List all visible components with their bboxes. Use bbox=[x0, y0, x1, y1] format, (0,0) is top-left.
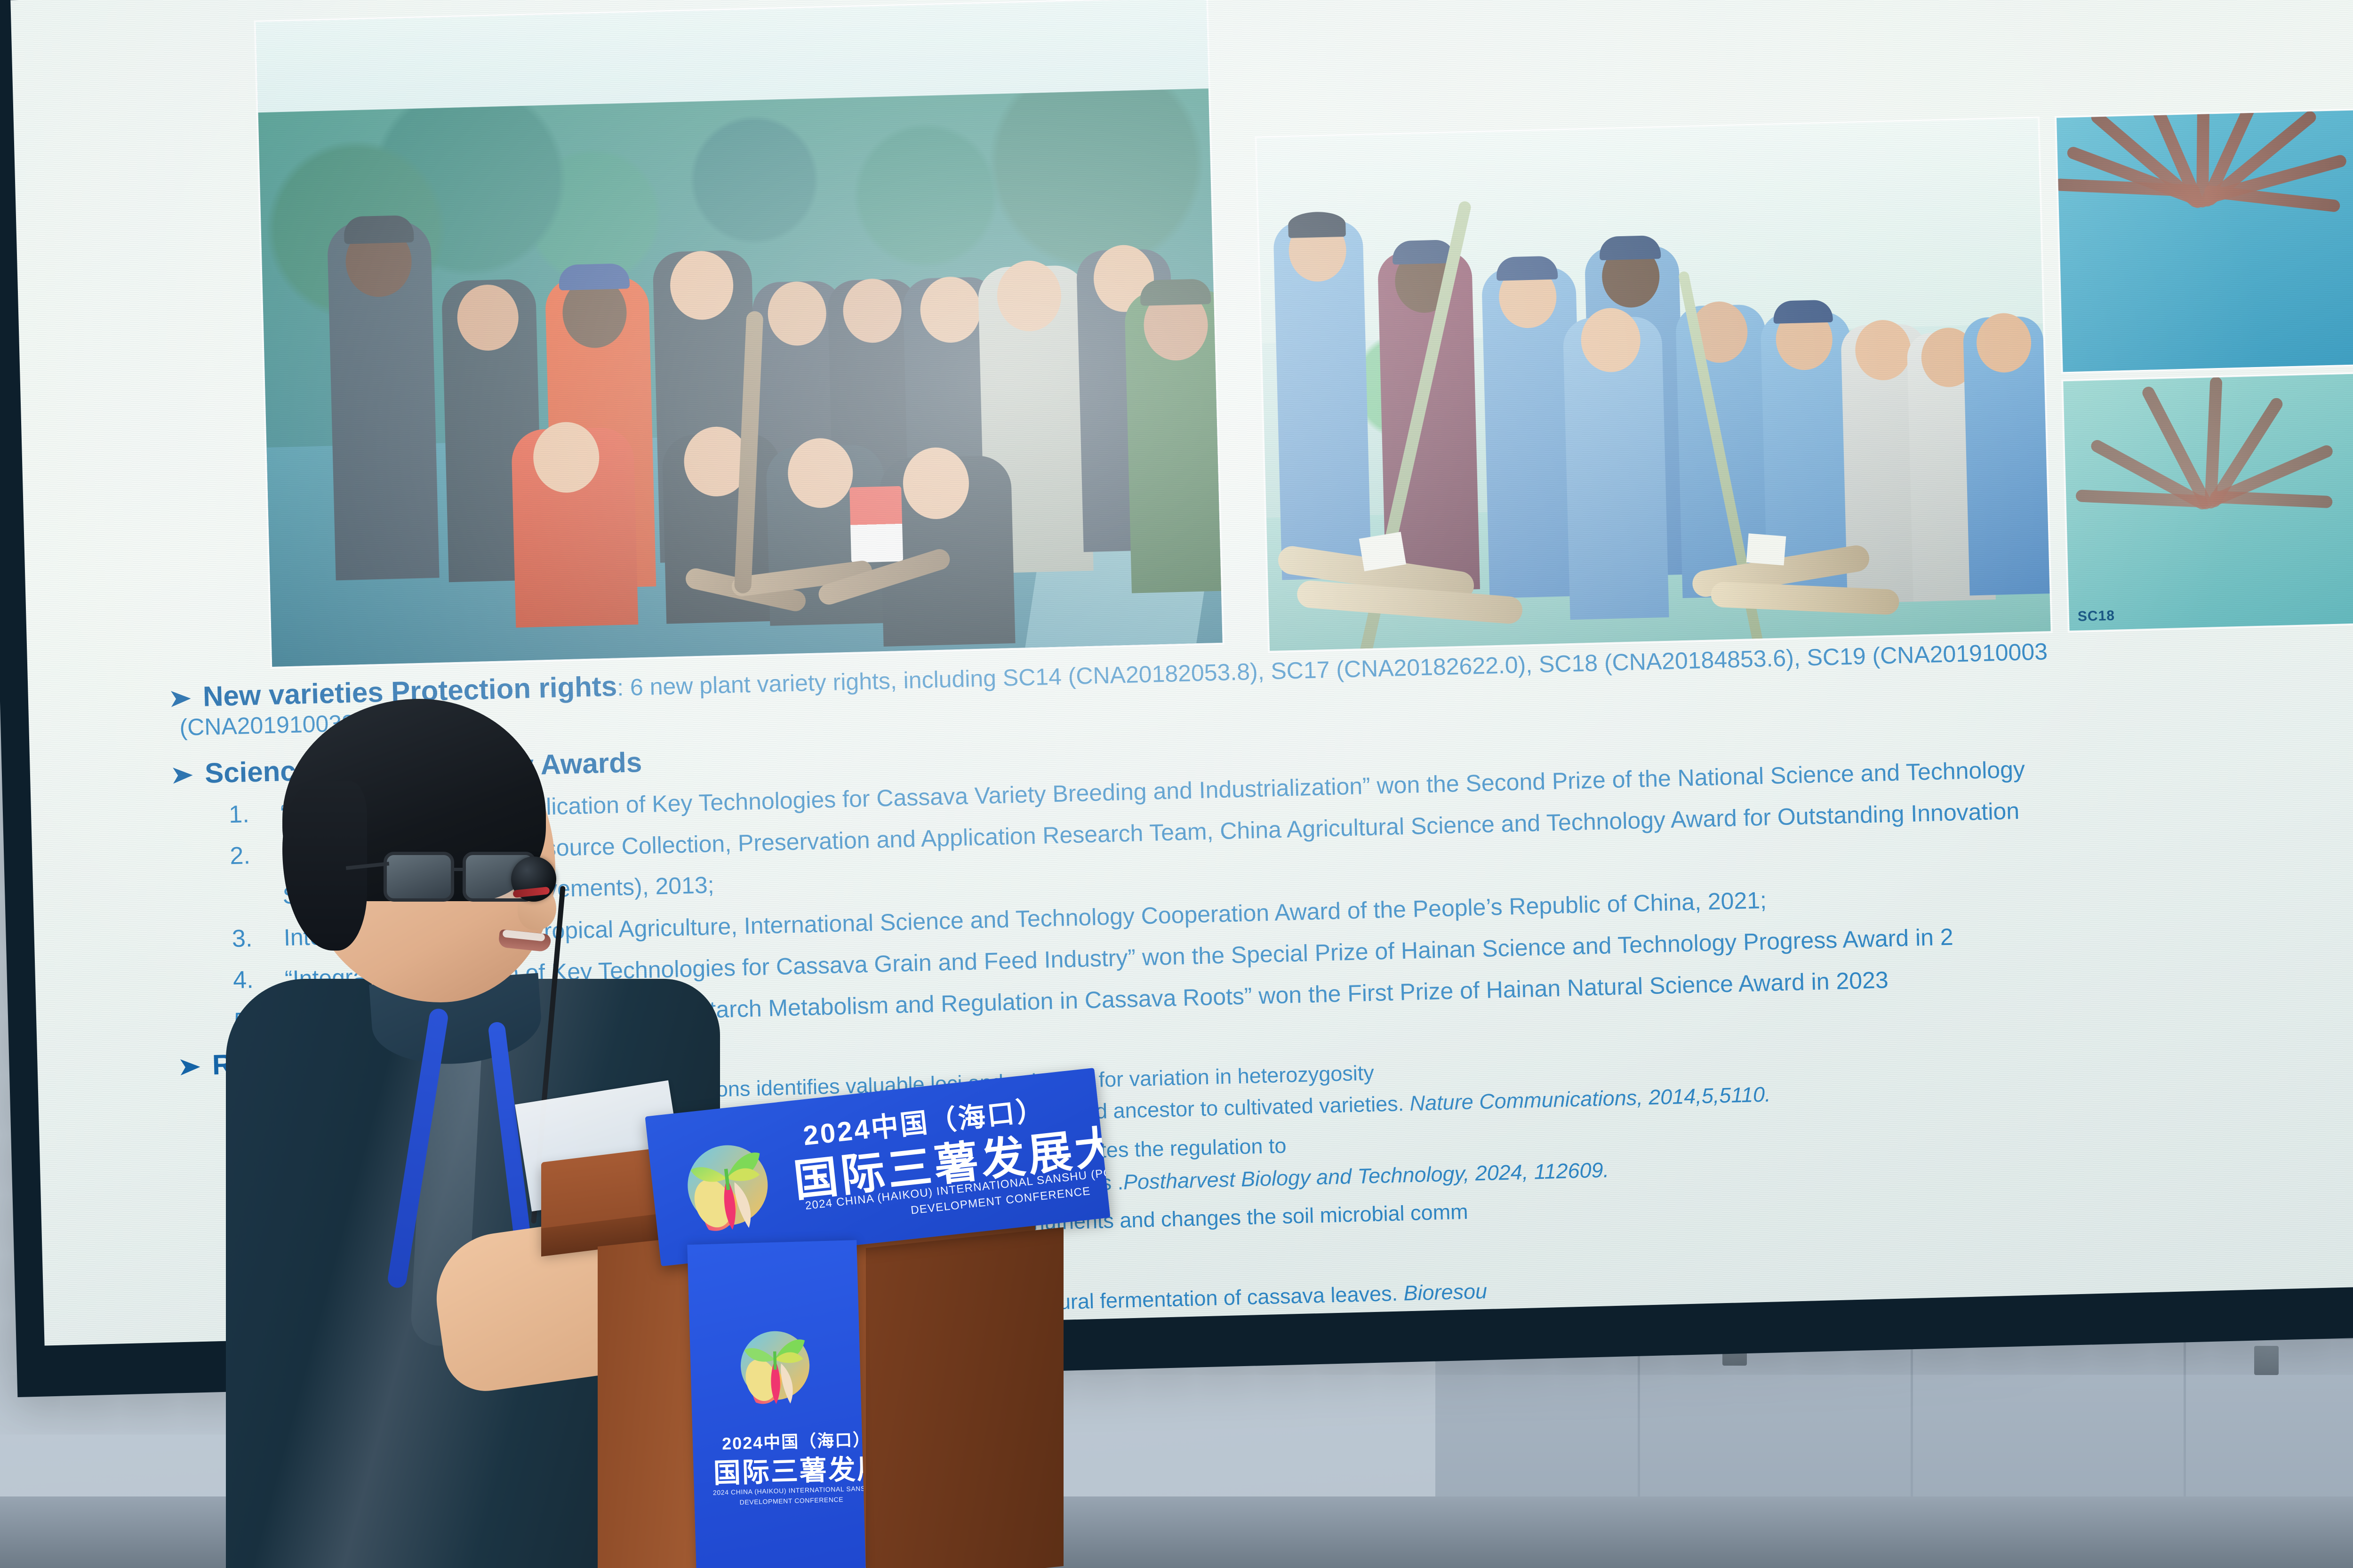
photo-person-cap bbox=[1773, 300, 1833, 324]
wall-socket bbox=[2254, 1346, 2279, 1375]
cassava-roots-bottom-photo: SC18 bbox=[2063, 374, 2353, 631]
podium-body-side bbox=[866, 1227, 1064, 1568]
photo-person-cap bbox=[1599, 235, 1661, 260]
group-photo-stems bbox=[1257, 119, 2051, 651]
photo-person-hat bbox=[344, 215, 414, 244]
photo-person-cap bbox=[1496, 256, 1558, 280]
cassava-root bbox=[2204, 185, 2341, 213]
eyeglass-bridge bbox=[454, 868, 464, 871]
presentation-scene: ved cassava new varieties, including SC … bbox=[0, 0, 2353, 1568]
cassava-root bbox=[2210, 491, 2333, 509]
bullet-arrow-icon: ➤ bbox=[168, 683, 193, 714]
photo-person-cap bbox=[559, 263, 630, 290]
photo-flag bbox=[849, 486, 903, 563]
cassava-roots-top-photo bbox=[2057, 110, 2353, 372]
bullet-arrow-icon: ➤ bbox=[169, 760, 195, 791]
group-photo-field bbox=[256, 0, 1223, 667]
bullet-arrow-icon: ➤ bbox=[177, 1052, 202, 1082]
floor-banner: 2024中国（海口） 国际三薯发展大会 2024 CHINA (HAIKOU) … bbox=[687, 1240, 865, 1568]
paper-journal: Bioresou bbox=[1403, 1279, 1488, 1305]
eyeglass-lens-left bbox=[384, 852, 454, 902]
photo-sample-tag bbox=[1359, 532, 1406, 571]
conference-emblem-icon bbox=[663, 1118, 792, 1248]
conference-emblem-icon bbox=[723, 1312, 827, 1416]
banner-chinese-main: 国际三薯发展大会 bbox=[713, 1445, 866, 1491]
banner-english-line2: DEVELOPMENT CONFERENCE bbox=[739, 1496, 843, 1506]
paper-journal: Nature Communications, 2014,5,5110. bbox=[1409, 1082, 1771, 1115]
photo-sample-tag bbox=[1746, 533, 1786, 565]
sc18-label: SC18 bbox=[2077, 608, 2115, 625]
photo-person-cap bbox=[1392, 240, 1455, 264]
emblem-svg bbox=[723, 1312, 827, 1416]
emblem-svg bbox=[663, 1118, 792, 1248]
paper-journal: Postharvest Biology and Technology, 2024… bbox=[1123, 1158, 1609, 1194]
photo-person-hat bbox=[1140, 279, 1211, 306]
